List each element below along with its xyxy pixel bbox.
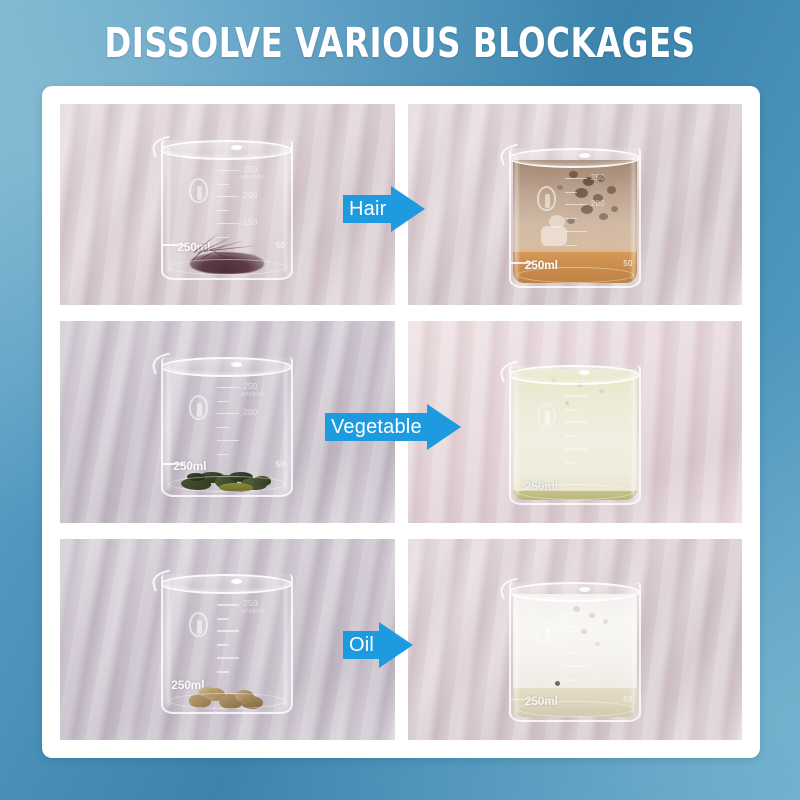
glass-highlight-right: [282, 580, 287, 706]
beaker-logo-emboss-icon: [189, 395, 208, 420]
cell-oil-before: 250 APPROX 250ml: [60, 539, 395, 740]
photo-frame-card: 250 APPROX 200 150 50 250ml: [42, 86, 760, 758]
graduation-label-250: 250: [591, 173, 605, 182]
graduation-label-50: 50: [276, 241, 286, 250]
beaker-graduations: [565, 393, 623, 477]
beaker-body: 250ml: [509, 365, 641, 505]
beaker-rim: [509, 365, 640, 385]
cell-hair-after: 250 200 50 250ml: [408, 104, 743, 305]
beaker-rim: [161, 357, 292, 377]
graduation-label-50: 50: [623, 695, 633, 704]
beaker-hair-before: 250 APPROX 200 150 50 250ml: [161, 130, 293, 280]
graduation-label-150: 150: [243, 218, 257, 227]
grease-chunks: [189, 679, 265, 709]
hair-clump: [184, 232, 270, 274]
graduation-label-50: 50: [276, 460, 286, 469]
beaker-body: 250 APPROX 250ml: [161, 574, 293, 714]
vegetable-scraps: [179, 458, 275, 492]
glass-highlight-left: [515, 154, 520, 280]
graduation-approx-label: APPROX: [241, 609, 264, 615]
beaker-logo-emboss-icon: [189, 612, 208, 637]
beaker-volume-mark: 250ml: [525, 258, 558, 272]
beaker-body: 250 200 50 250ml: [509, 148, 641, 288]
beaker-logo-emboss-icon: [537, 403, 556, 428]
beaker-graduations: 250 APPROX: [217, 602, 275, 686]
dissolved-liquid-vegetable: [513, 488, 637, 500]
cell-hair-before: 250 APPROX 200 150 50 250ml: [60, 104, 395, 305]
beaker-volume-mark: 250ml: [525, 694, 558, 708]
beaker-oil-after: 50 250ml: [509, 572, 641, 722]
beaker-rim: [509, 148, 640, 168]
beaker-volume-mark: 250ml: [525, 479, 558, 493]
beaker-graduations: 250 200: [565, 176, 623, 260]
page-title: DISSOLVE VARIOUS BLOCKAGES: [104, 23, 695, 64]
glass-highlight-right: [282, 146, 287, 272]
glass-highlight-right: [630, 371, 635, 497]
beaker-body: 50 250ml: [509, 582, 641, 722]
beaker-logo-emboss-icon: [537, 186, 556, 211]
graduation-label-250: 250: [243, 382, 257, 391]
beaker-vegetable-before: 250 APPROX 200 50 250ml: [161, 347, 293, 497]
graduation-label-200: 200: [243, 408, 257, 417]
beaker-hair-after: 250 200 50 250ml: [509, 138, 641, 288]
graduation-label-250: 250: [243, 165, 257, 174]
title-bar: DISSOLVE VARIOUS BLOCKAGES: [0, 0, 800, 86]
cell-vegetable-before: 250 APPROX 200 50 250ml: [60, 321, 395, 522]
glass-highlight-left: [515, 371, 520, 497]
glass-highlight-right: [282, 363, 287, 489]
graduation-approx-label: APPROX: [241, 392, 264, 398]
beaker-body: 250 APPROX 200 50 250ml: [161, 357, 293, 497]
graduation-label-250: 250: [243, 599, 257, 608]
beaker-logo-emboss-icon: [189, 178, 208, 203]
beaker-oil-before: 250 APPROX 250ml: [161, 564, 293, 714]
beaker-logo-emboss-icon: [537, 620, 556, 645]
cell-vegetable-after: 250ml: [408, 321, 743, 522]
beaker-vegetable-after: 250ml: [509, 355, 641, 505]
glass-highlight-left: [167, 146, 172, 272]
beaker-graduations: 250 APPROX 200: [217, 385, 275, 469]
cell-oil-after: 50 250ml: [408, 539, 743, 740]
glass-highlight-left: [515, 588, 520, 714]
beaker-body: 250 APPROX 200 150 50 250ml: [161, 140, 293, 280]
graduation-approx-label: APPROX: [241, 175, 264, 181]
beaker-graduations: [565, 610, 623, 694]
beaker-rim: [161, 140, 292, 160]
graduation-label-50: 50: [623, 259, 633, 268]
graduation-label-200: 200: [591, 199, 605, 208]
comparison-grid: 250 APPROX 200 150 50 250ml: [60, 104, 742, 740]
product-poster: DISSOLVE VARIOUS BLOCKAGES 250 APPROX: [0, 0, 800, 800]
graduation-label-200: 200: [243, 191, 257, 200]
beaker-rim: [161, 574, 292, 594]
beaker-rim: [509, 582, 640, 602]
glass-highlight-left: [167, 363, 172, 489]
